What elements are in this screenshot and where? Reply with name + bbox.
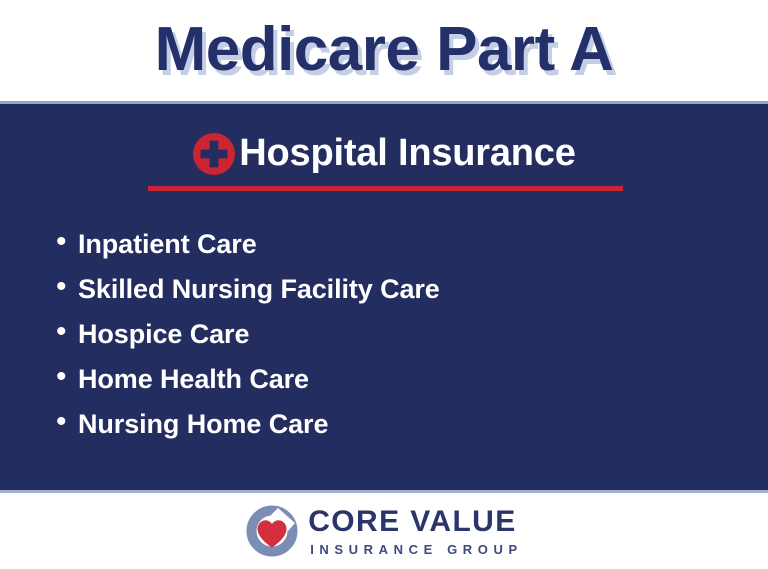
subtitle-row: Hospital Insurance [0, 130, 768, 176]
bullet-icon: • [56, 362, 78, 392]
bullet-icon: • [56, 272, 78, 302]
benefits-list: • Inpatient Care • Skilled Nursing Facil… [56, 229, 440, 454]
list-item: • Nursing Home Care [56, 409, 440, 454]
c-ring-heart-icon [245, 504, 299, 558]
brand-logo: CORE VALUE INSURANCE GROUP [245, 504, 523, 558]
bullet-icon: • [56, 407, 78, 437]
brand-wordmark: CORE VALUE INSURANCE GROUP [308, 507, 523, 556]
list-item: • Skilled Nursing Facility Care [56, 274, 440, 319]
title-band: Medicare Part A [0, 0, 768, 103]
medical-cross-icon [192, 130, 239, 176]
bullet-icon: • [56, 227, 78, 257]
content-panel: Hospital Insurance • Inpatient Care • Sk… [0, 101, 768, 493]
list-item-label: Inpatient Care [78, 231, 257, 258]
subtitle-label: Hospital Insurance [239, 134, 575, 172]
footer-band: CORE VALUE INSURANCE GROUP [0, 493, 768, 569]
brand-tagline: INSURANCE GROUP [310, 543, 523, 556]
list-item-label: Home Health Care [78, 366, 309, 393]
list-item-label: Hospice Care [78, 321, 249, 348]
page-title: Medicare Part A [155, 19, 614, 85]
medicare-part-a-infographic: Medicare Part A Hospital Insurance • Inp… [0, 0, 768, 569]
list-item: • Inpatient Care [56, 229, 440, 274]
bullet-icon: • [56, 317, 78, 347]
list-item-label: Skilled Nursing Facility Care [78, 276, 440, 303]
list-item-label: Nursing Home Care [78, 411, 328, 438]
list-item: • Home Health Care [56, 364, 440, 409]
list-item: • Hospice Care [56, 319, 440, 364]
brand-name: CORE VALUE [308, 507, 523, 537]
subtitle-underline [148, 186, 623, 191]
